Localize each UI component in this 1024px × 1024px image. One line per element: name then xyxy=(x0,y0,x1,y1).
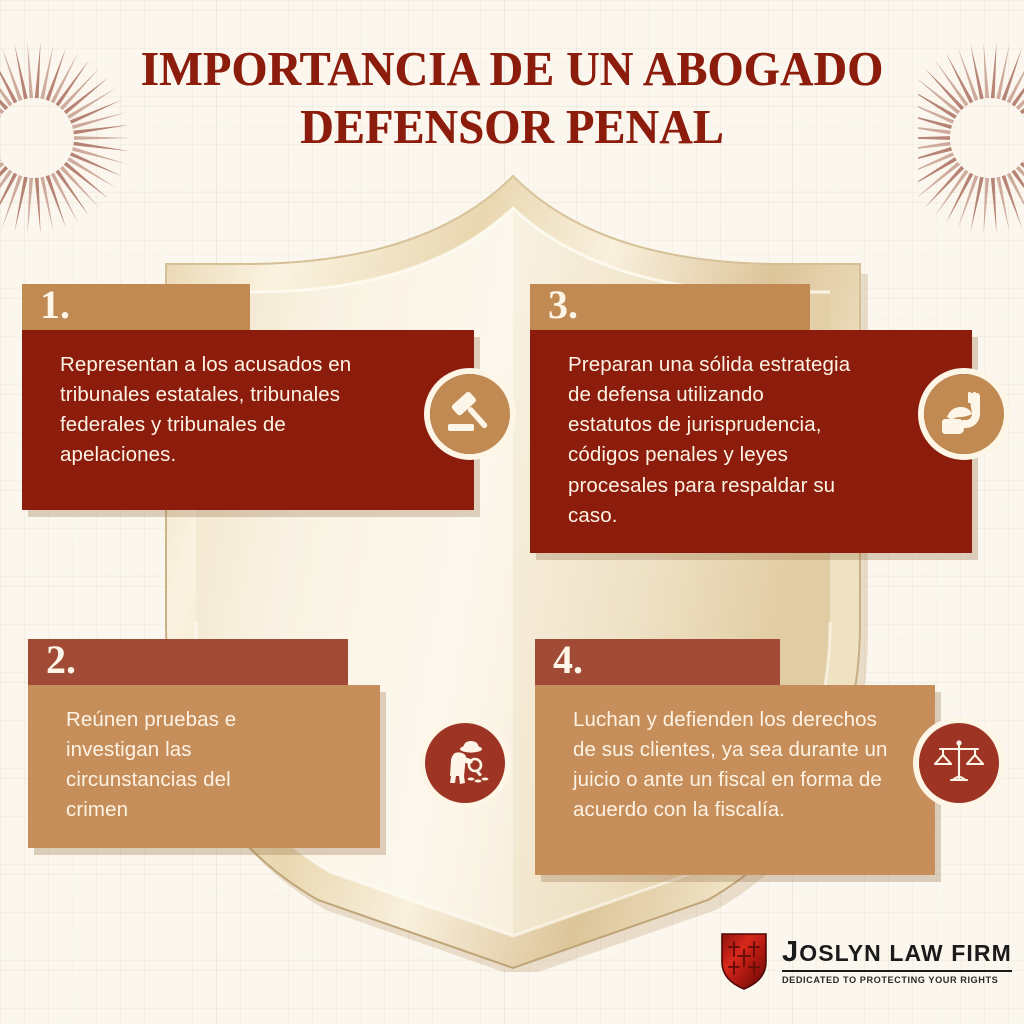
info-card-1[interactable]: 1. Representan a los acusados en tribuna… xyxy=(22,284,474,510)
joslyn-law-firm-logo[interactable]: JOSLYN LAW FIRM DEDICATED TO PROTECTING … xyxy=(718,930,1012,992)
page-title: IMPORTANCIA DE UN ABOGADO DEFENSOR PENAL xyxy=(0,40,1024,156)
card-3-text: Preparan una sólida estrategia de defens… xyxy=(568,350,852,531)
logo-name-initial: J xyxy=(782,936,799,968)
logo-name-rest: OSLYN LAW FIRM xyxy=(799,940,1012,966)
card-2-text: Reúnen pruebas e investigan las circunst… xyxy=(66,705,284,826)
card-1-body: Representan a los acusados en tribunales… xyxy=(22,330,474,510)
info-card-4[interactable]: 4. Luchan y defienden los derechos de su… xyxy=(535,639,935,875)
card-4-text: Luchan y defienden los derechos de sus c… xyxy=(573,705,905,826)
logo-name: JOSLYN LAW FIRM xyxy=(782,938,1012,972)
card-4-number-tab: 4. xyxy=(535,639,780,685)
card-1-text: Representan a los acusados en tribunales… xyxy=(60,350,354,471)
card-3-body: Preparan una sólida estrategia de defens… xyxy=(530,330,972,553)
card-4-number: 4. xyxy=(535,640,583,680)
shield-with-crosses-icon xyxy=(718,930,770,992)
card-3-number-tab: 3. xyxy=(530,284,810,330)
card-1-number: 1. xyxy=(22,285,70,325)
scales-of-justice-icon xyxy=(913,717,1005,809)
logo-tagline: DEDICATED TO PROTECTING YOUR RIGHTS xyxy=(782,975,1012,985)
title-line-2: DEFENSOR PENAL xyxy=(31,98,994,156)
detective-magnifier-icon xyxy=(419,717,511,809)
info-card-3[interactable]: 3. Preparan una sólida estrategia de def… xyxy=(530,284,972,553)
card-3-number: 3. xyxy=(530,285,578,325)
title-line-1: IMPORTANCIA DE UN ABOGADO xyxy=(31,40,994,98)
card-2-body: Reúnen pruebas e investigan las circunst… xyxy=(28,685,380,848)
card-1-number-tab: 1. xyxy=(22,284,250,330)
flexed-bicep-icon xyxy=(918,368,1010,460)
card-2-number: 2. xyxy=(28,640,76,680)
card-2-number-tab: 2. xyxy=(28,639,348,685)
gavel-icon xyxy=(424,368,516,460)
info-card-2[interactable]: 2. Reúnen pruebas e investigan las circu… xyxy=(28,639,380,848)
card-4-body: Luchan y defienden los derechos de sus c… xyxy=(535,685,935,875)
